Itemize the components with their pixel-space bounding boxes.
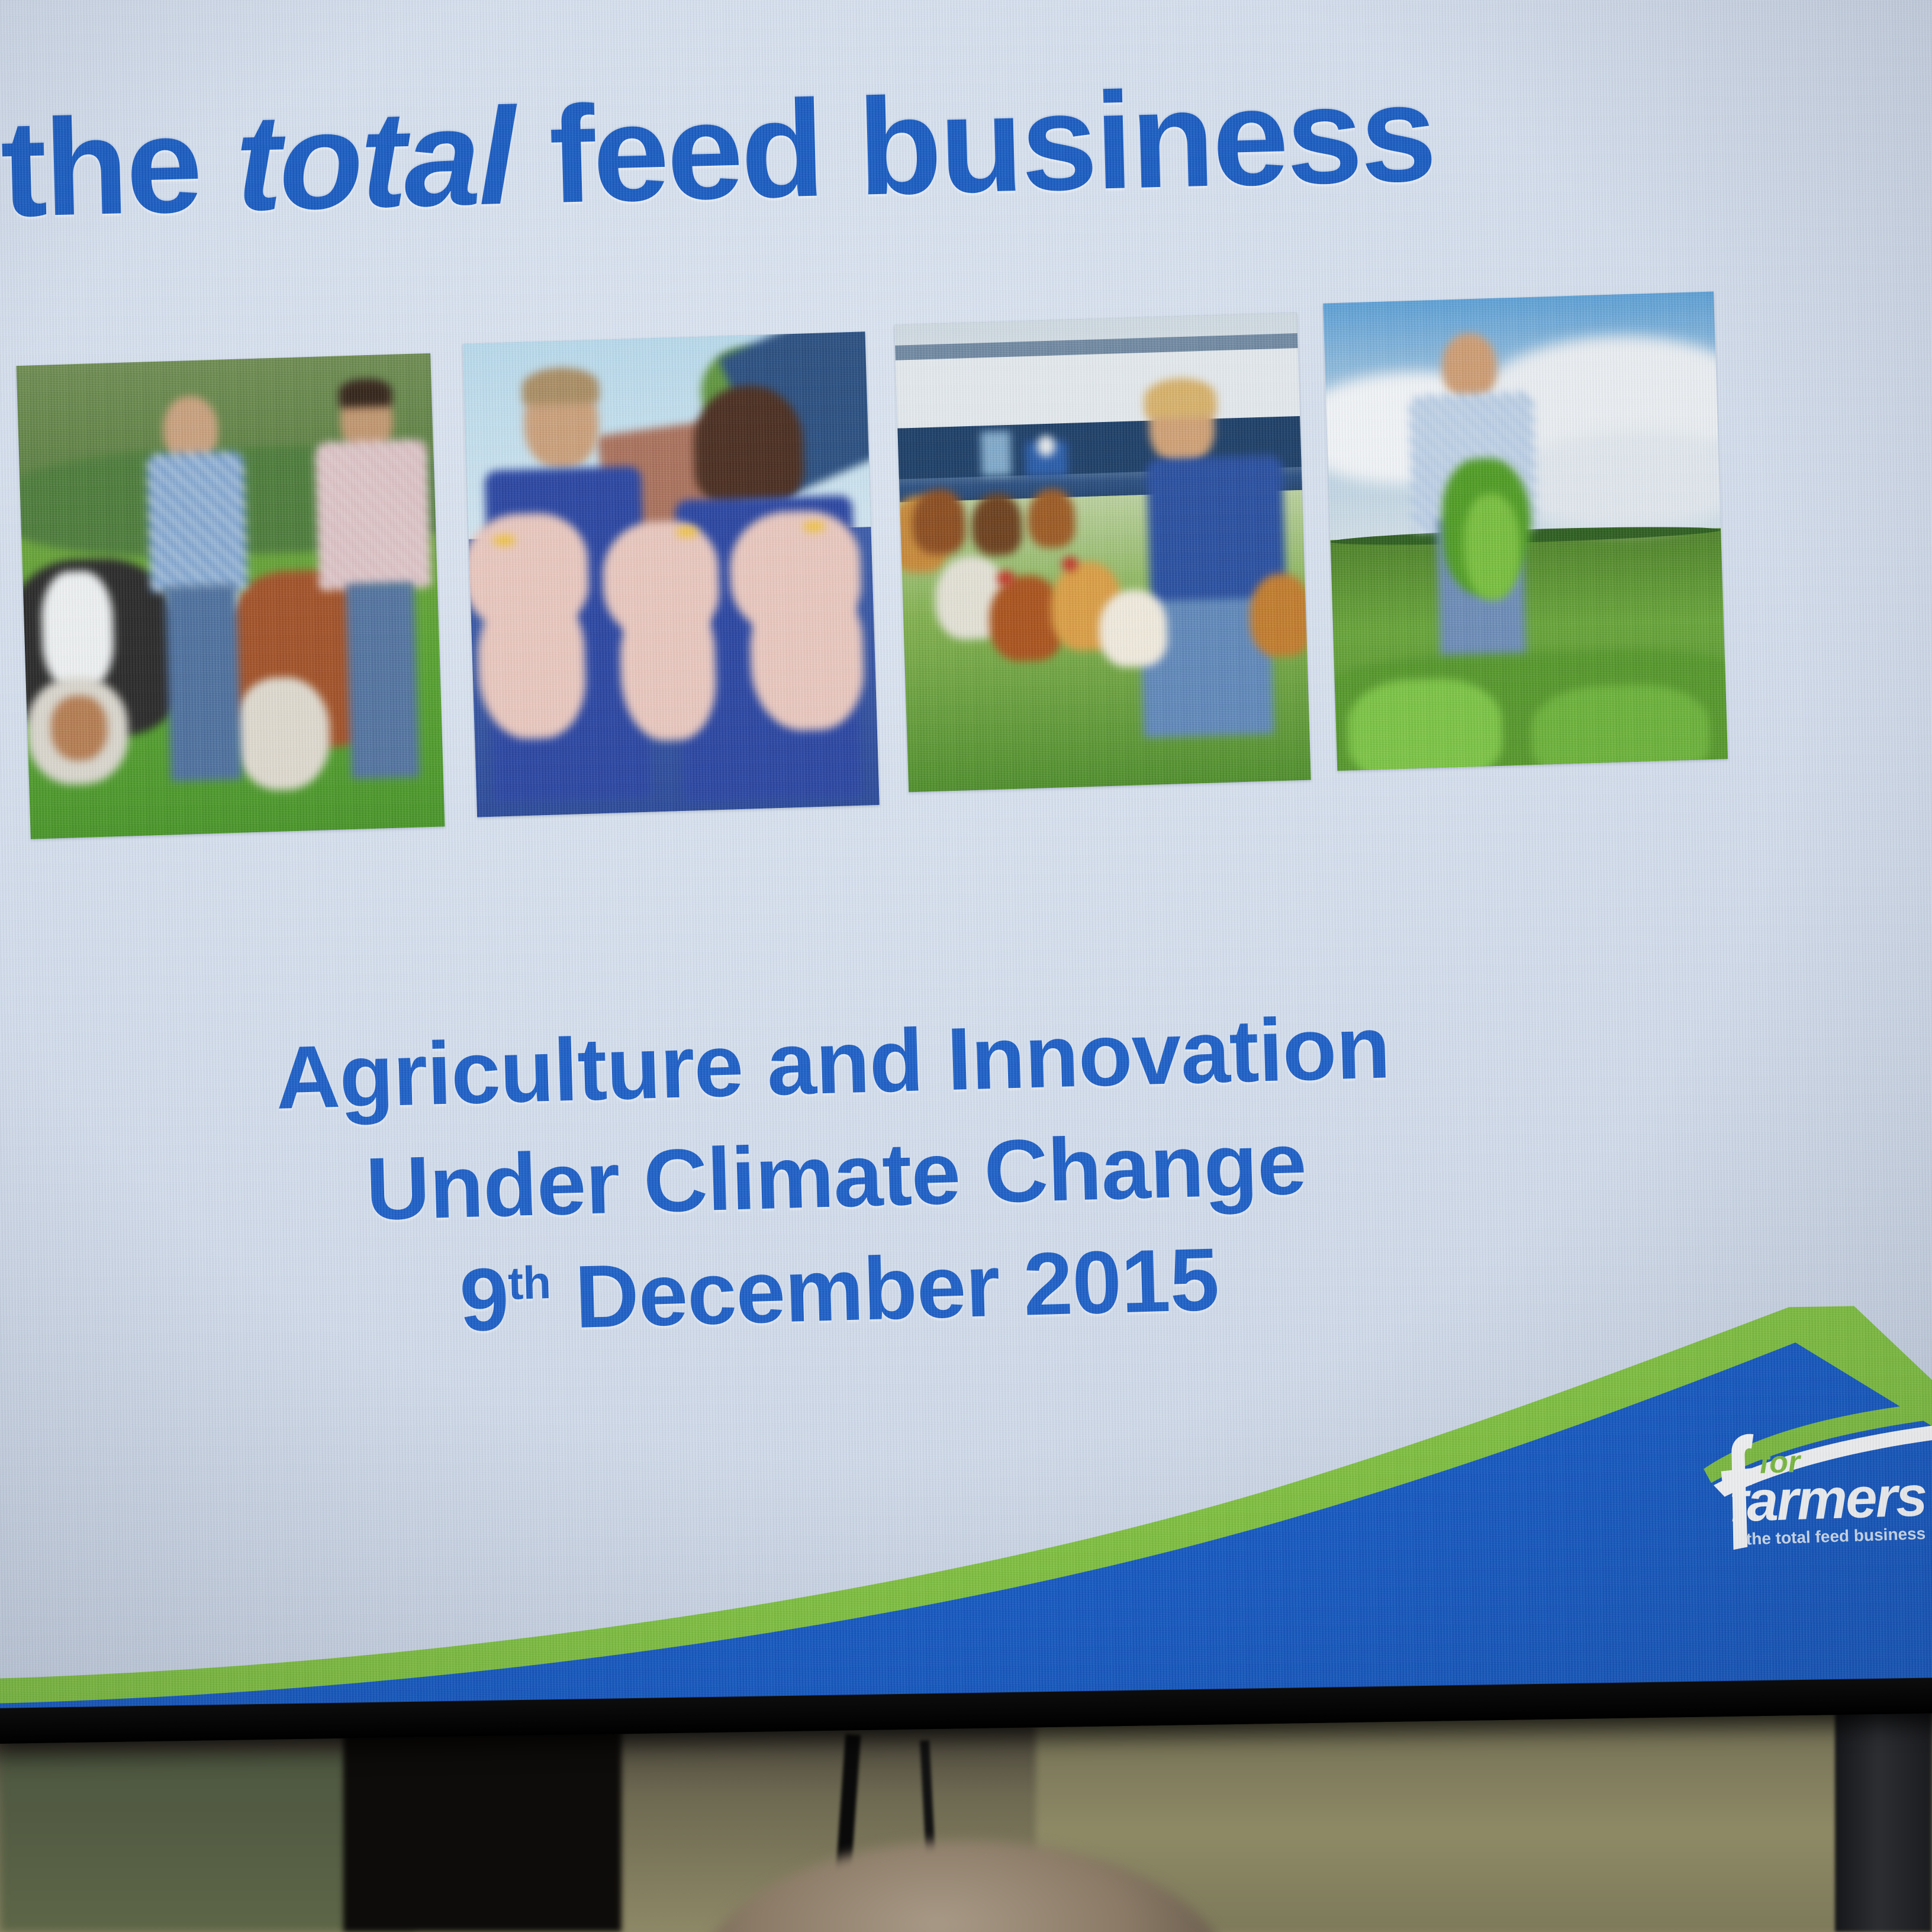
logo-farmers-text: farmers [1728, 1464, 1927, 1534]
slide-title: the total feed business [0, 56, 1778, 239]
projection-screen: the total feed business [0, 0, 1932, 1744]
room-dark-column [343, 1728, 622, 1932]
room-photo-frame: the total feed business [0, 0, 1932, 1932]
footer-wave-graphic [0, 1234, 1932, 1714]
presentation-slide: the total feed business [0, 0, 1932, 1714]
photo-arable-crop-field [1323, 291, 1728, 771]
forfarmers-logo: for farmers the total feed business [1695, 1392, 1932, 1577]
photo-piglets-with-farmers [463, 331, 880, 817]
photo-dairy-cows-and-farmers [16, 353, 445, 839]
photo-strip [16, 296, 1782, 846]
title-emphasis-total: total [234, 80, 516, 240]
title-part-2: feed business [511, 56, 1436, 233]
photo-free-range-chickens [894, 313, 1311, 792]
title-part-1: the [0, 86, 237, 246]
